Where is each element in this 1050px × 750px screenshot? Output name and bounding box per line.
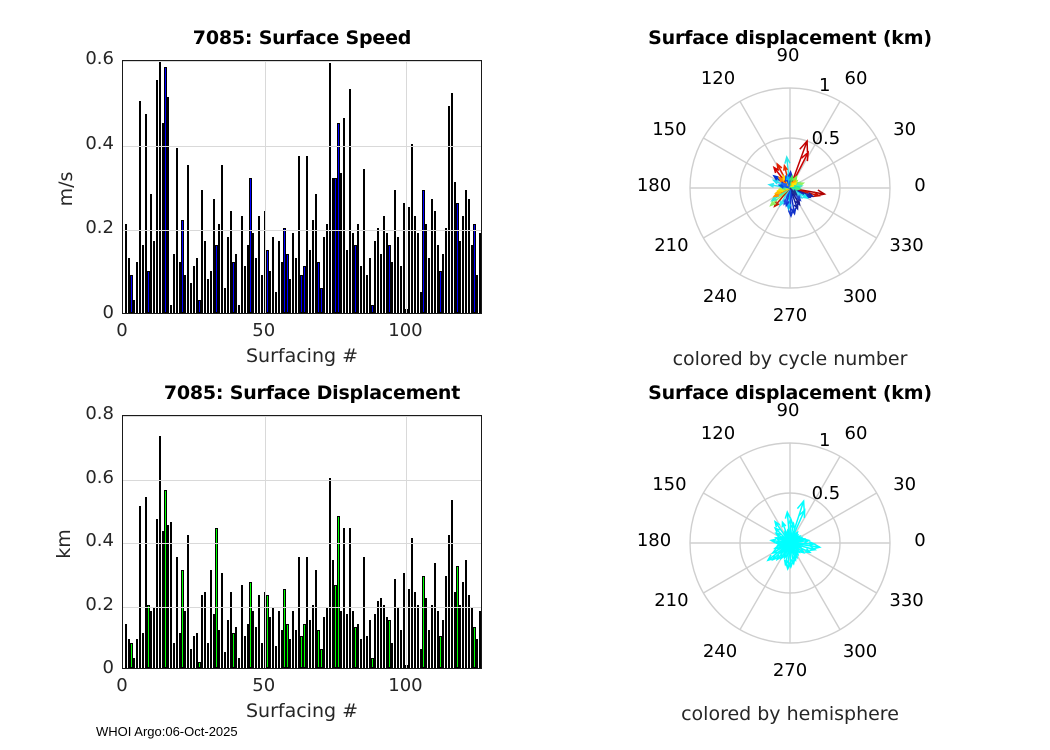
gridline-horizontal	[123, 607, 481, 608]
polar-angle-label-210: 210	[643, 235, 699, 256]
bar	[479, 233, 481, 313]
axis-label-speed-x: Surfacing #	[122, 345, 482, 367]
polar-plot-hemisphere: 03060901201501802102402703003300.51	[660, 413, 920, 673]
polar-angle-label-120: 120	[690, 423, 746, 444]
gridline-horizontal	[123, 230, 481, 231]
page-title-speed: 7085: Surface Speed	[122, 27, 482, 49]
bar-series-speed	[123, 61, 481, 313]
gridline-vertical	[406, 416, 407, 668]
polar-angle-label-30: 30	[877, 474, 933, 495]
bar	[479, 611, 481, 668]
polar-angle-label-270: 270	[762, 305, 818, 326]
polar-angle-label-0: 0	[892, 175, 948, 196]
polar-radius-label-1: 1	[797, 75, 853, 96]
y-tick-label: 0.4	[44, 133, 114, 154]
x-tick-label: 50	[224, 320, 304, 341]
polar-radius-label-0.5: 0.5	[798, 483, 854, 504]
gridline-horizontal	[123, 416, 481, 417]
gridline-horizontal	[123, 543, 481, 544]
plot-area-displacement	[122, 415, 482, 669]
polar-angle-label-210: 210	[643, 590, 699, 611]
y-tick-label: 0.2	[44, 594, 114, 615]
x-tick-label: 100	[365, 675, 445, 696]
polar-angle-label-30: 30	[877, 119, 933, 140]
y-tick-label: 0.2	[44, 217, 114, 238]
bar	[167, 97, 169, 313]
polar-angle-label-330: 330	[879, 235, 935, 256]
page-title-displacement: 7085: Surface Displacement	[122, 382, 502, 404]
polar-angle-label-150: 150	[641, 119, 697, 140]
gridline-vertical	[265, 416, 266, 668]
polar-angle-label-330: 330	[879, 590, 935, 611]
polar-angle-label-120: 120	[690, 68, 746, 89]
polar-angle-label-90: 90	[760, 45, 816, 66]
polar-angle-label-150: 150	[641, 474, 697, 495]
y-tick-label: 0.6	[44, 467, 114, 488]
polar-angle-label-270: 270	[762, 660, 818, 681]
x-tick-label: 50	[224, 675, 304, 696]
polar-angle-label-180: 180	[626, 530, 682, 551]
polar-angle-label-300: 300	[832, 286, 888, 307]
gridline-vertical	[265, 61, 266, 313]
bar	[403, 203, 405, 313]
polar-angle-label-240: 240	[692, 286, 748, 307]
polar-radius-label-0.5: 0.5	[798, 128, 854, 149]
plot-area-speed	[122, 60, 482, 314]
caption-polar-hemi: colored by hemisphere	[595, 703, 985, 725]
gridline-horizontal	[123, 61, 481, 62]
polar-spoke	[740, 456, 790, 543]
polar-radius-label-1: 1	[797, 430, 853, 451]
axis-label-displacement-x: Surfacing #	[122, 700, 482, 722]
y-tick-label: 0.8	[44, 403, 114, 424]
gridline-vertical	[406, 61, 407, 313]
bar-series-displacement	[123, 416, 481, 668]
polar-angle-label-240: 240	[692, 641, 748, 662]
bar	[403, 573, 405, 668]
y-tick-label: 0.4	[44, 530, 114, 551]
axis-label-speed-y: m/s	[55, 159, 77, 219]
polar-angle-label-0: 0	[892, 530, 948, 551]
polar-plot-cycle: 03060901201501802102402703003300.51	[660, 58, 920, 318]
footer-credit: WHOI Argo:06-Oct-2025	[96, 724, 238, 739]
polar-angle-label-180: 180	[626, 175, 682, 196]
x-tick-label: 0	[82, 320, 162, 341]
gridline-horizontal	[123, 146, 481, 147]
x-tick-label: 0	[82, 675, 162, 696]
polar-vectors	[769, 141, 824, 216]
caption-polar-cycle: colored by cycle number	[595, 348, 985, 370]
x-tick-label: 100	[365, 320, 445, 341]
y-tick-label: 0.6	[44, 48, 114, 69]
polar-angle-label-90: 90	[760, 400, 816, 421]
gridline-horizontal	[123, 480, 481, 481]
polar-angle-label-300: 300	[832, 641, 888, 662]
